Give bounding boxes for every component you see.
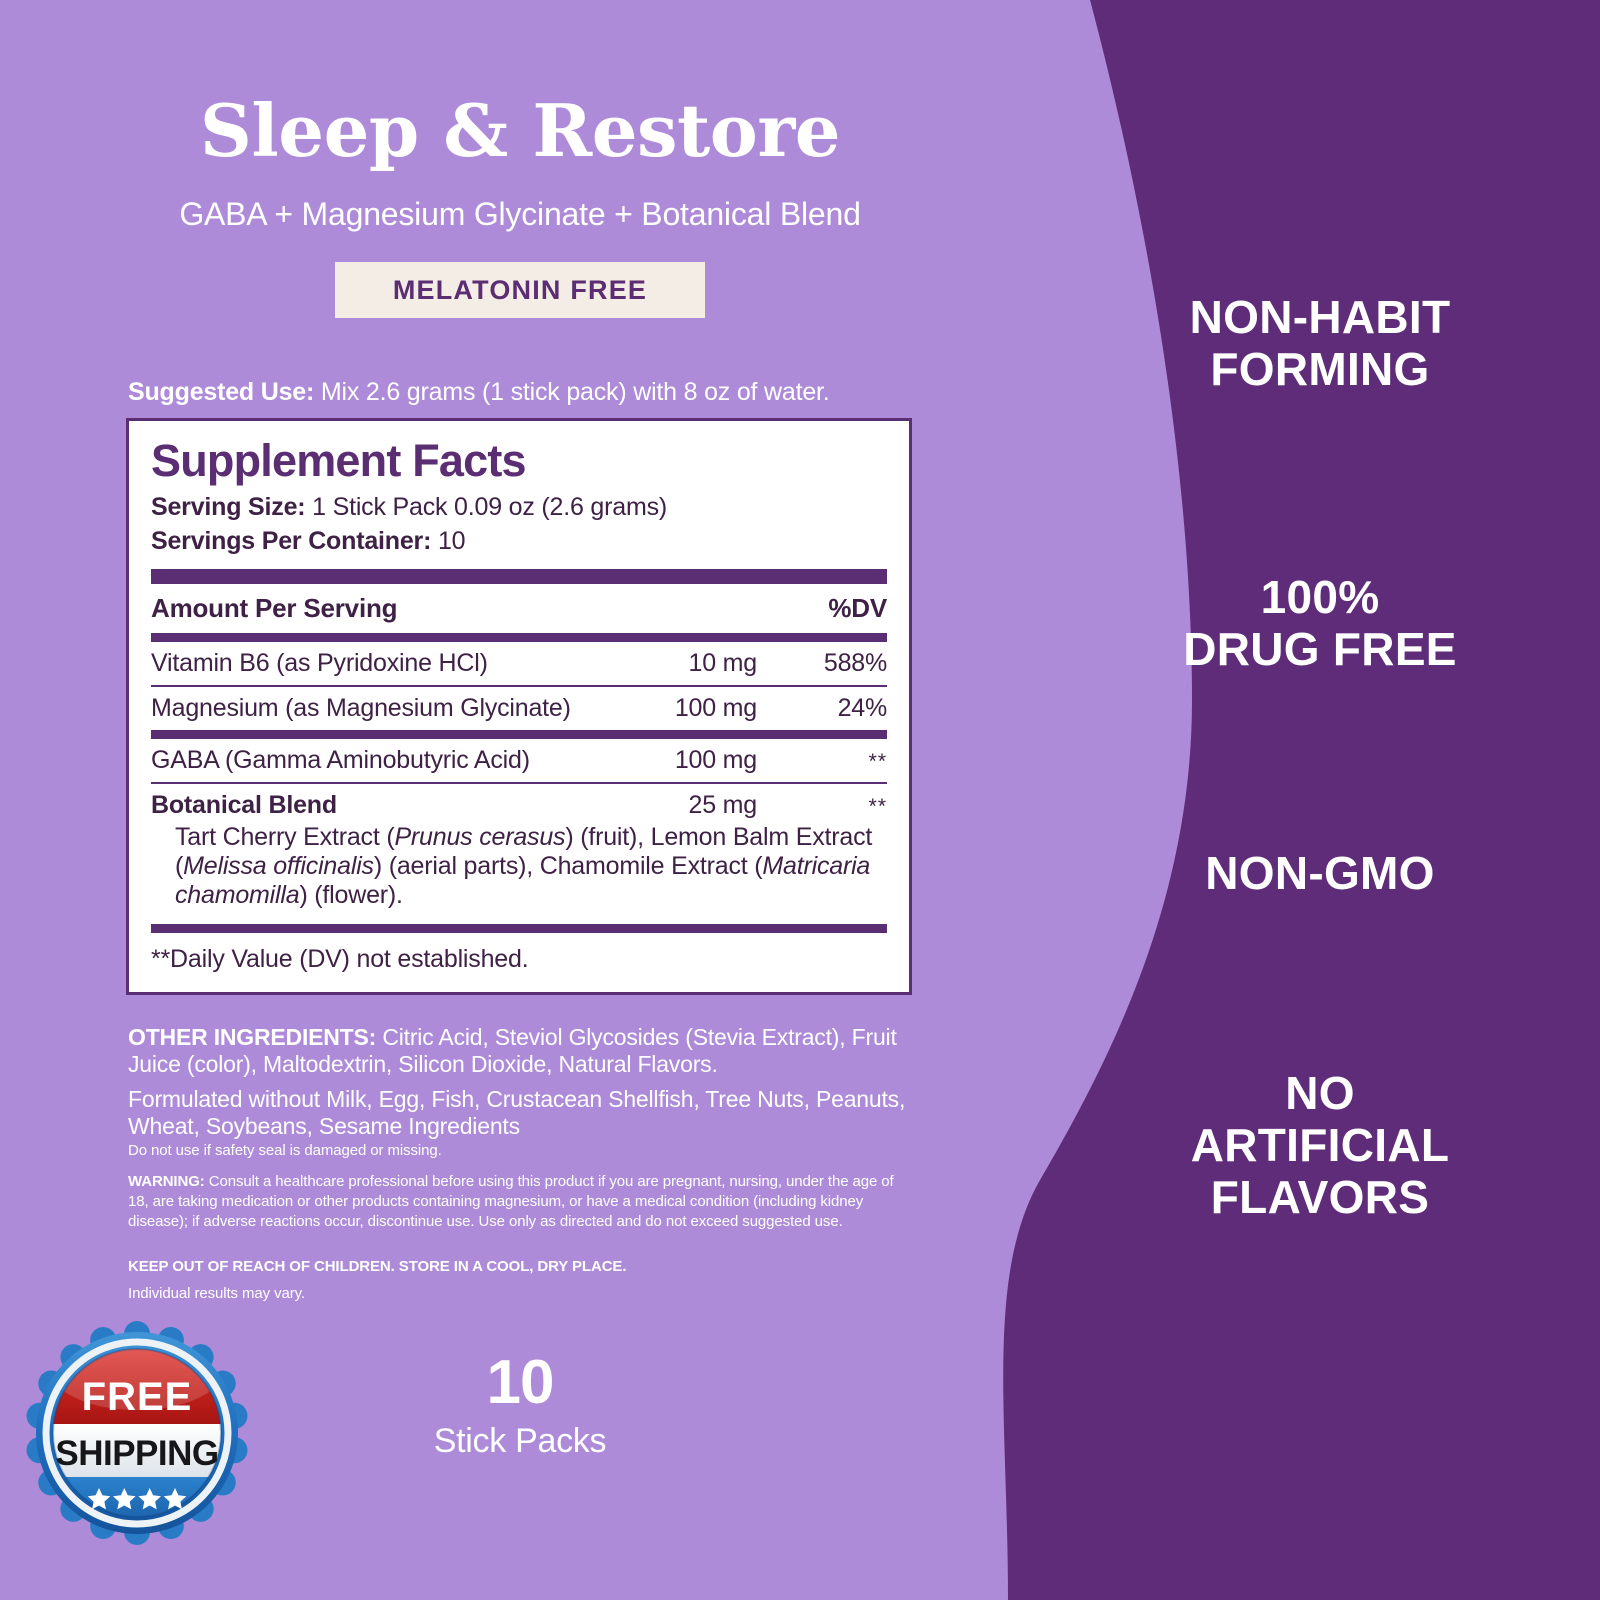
badge-free-text: FREE [82,1375,193,1419]
nutrient-name: GABA (Gamma Aminobutyric Acid) [151,746,589,775]
pack-count-number: 10 [390,1352,650,1414]
warning-block: WARNING: Consult a healthcare profession… [128,1172,918,1231]
divider-med-bottom [151,924,887,933]
nutrient-name: Magnesium (as Magnesium Glycinate) [151,694,589,723]
melatonin-free-badge-label: MELATONIN FREE [393,275,647,306]
supplement-facts-panel: Supplement Facts Serving Size: 1 Stick P… [126,418,912,995]
nutrient-name: Vitamin B6 (as Pyridoxine HCl) [151,649,589,678]
claims-column: NON-HABIT FORMING 100% DRUG FREE NON-GMO… [1040,0,1600,1600]
nutrient-dv: 24% [769,694,887,723]
page-title: Sleep & Restore [0,95,1040,167]
keep-out-of-reach-text: KEEP OUT OF REACH OF CHILDREN. STORE IN … [128,1258,918,1275]
servings-per-container-label: Servings Per Container: [151,527,431,555]
servings-per-container-value: 10 [431,527,465,555]
safety-seal-note: Do not use if safety seal is damaged or … [128,1142,918,1159]
blend-latin-2: Melissa officinalis [183,852,374,880]
badge-shipping-text: SHIPPING [55,1434,218,1473]
blend-text-3: ) (aerial parts), Chamomile Extract ( [374,852,763,880]
suggested-use-text: Mix 2.6 grams (1 stick pack) with 8 oz o… [314,378,829,406]
table-row: Botanical Blend 25 mg ** [151,784,887,827]
serving-size-line: Serving Size: 1 Stick Pack 0.09 oz (2.6 … [151,490,887,524]
pack-count-label: Stick Packs [390,1422,650,1461]
melatonin-free-badge: MELATONIN FREE [335,262,705,318]
claim-non-habit-forming: NON-HABIT FORMING [1040,292,1600,396]
servings-per-container-line: Servings Per Container: 10 [151,524,887,558]
warning-text: Consult a healthcare professional before… [128,1173,894,1230]
table-row: Vitamin B6 (as Pyridoxine HCl) 10 mg 588… [151,642,887,685]
claim-no-artificial-flavors: NO ARTIFICIAL FLAVORS [1040,1068,1600,1224]
claim-drug-free: 100% DRUG FREE [1040,572,1600,676]
botanical-blend-detail: Tart Cherry Extract (Prunus cerasus) (fr… [151,823,887,910]
nutrient-amount: 10 mg [589,649,769,678]
other-ingredients-line: OTHER INGREDIENTS: Citric Acid, Steviol … [128,1024,918,1077]
blend-text-4: ) (flower). [299,881,402,909]
nutrient-amount: 100 mg [589,694,769,723]
supplement-facts-title: Supplement Facts [151,437,887,484]
nutrient-dv: ** [769,795,887,819]
divider-med-1 [151,633,887,642]
suggested-use-line: Suggested Use: Mix 2.6 grams (1 stick pa… [128,378,928,407]
nutrient-dv: 588% [769,649,887,678]
blend-latin-1: Prunus cerasus [394,823,565,851]
other-ingredients-label: OTHER INGREDIENTS: [128,1024,376,1050]
formulated-without-text: Formulated without Milk, Egg, Fish, Crus… [128,1086,918,1139]
suggested-use-label: Suggested Use: [128,378,314,406]
claim-non-gmo: NON-GMO [1040,848,1600,900]
nutrient-name: Botanical Blend [151,791,589,820]
table-header-row: Amount Per Serving %DV [151,584,887,633]
table-row: GABA (Gamma Aminobutyric Acid) 100 mg ** [151,739,887,782]
divider-med-2 [151,730,887,739]
serving-size-label: Serving Size: [151,493,305,521]
free-shipping-badge: FREE SHIPPING [22,1318,252,1548]
serving-size-value: 1 Stick Pack 0.09 oz (2.6 grams) [305,493,667,521]
warning-label: WARNING: [128,1173,205,1190]
divider-thick-top [151,569,887,584]
table-row: Magnesium (as Magnesium Glycinate) 100 m… [151,687,887,730]
daily-value-footnote: **Daily Value (DV) not established. [151,933,887,974]
blend-text-1: Tart Cherry Extract ( [175,823,394,851]
product-subtitle: GABA + Magnesium Glycinate + Botanical B… [0,196,1040,233]
nutrient-dv: ** [769,750,887,774]
nutrient-amount: 100 mg [589,746,769,775]
nutrient-amount: 25 mg [589,791,769,820]
amount-per-serving-header: Amount Per Serving [151,593,589,624]
individual-results-text: Individual results may vary. [128,1285,918,1302]
dv-header: %DV [769,593,887,624]
